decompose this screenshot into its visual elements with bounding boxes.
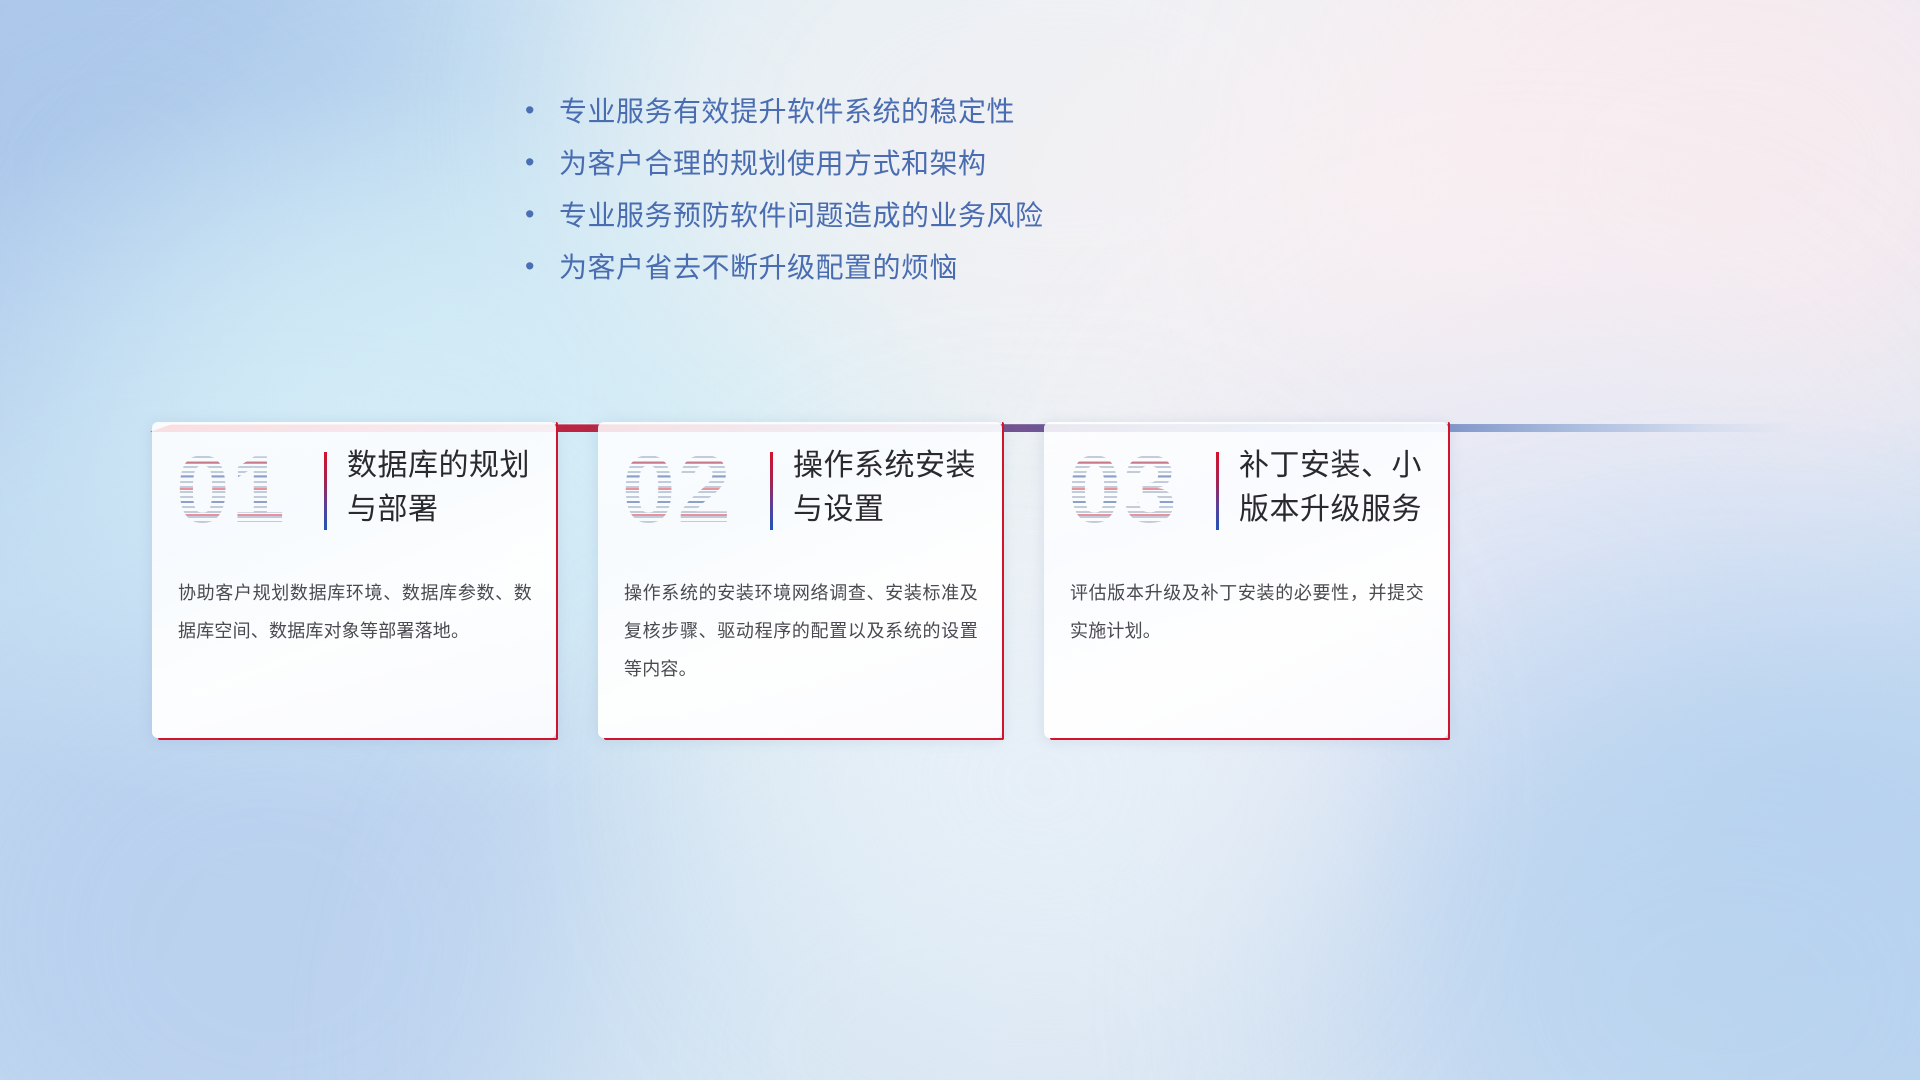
list-item: • 专业服务有效提升软件系统的稳定性	[525, 86, 1425, 138]
card-title-line2: 版本升级服务	[1239, 488, 1422, 532]
service-card-03[interactable]: 03 03 补丁安装、小 版本升级服务 评估版本升级及补丁安装的必要性，并提交实…	[1044, 422, 1448, 738]
card-body-text: 操作系统的安装环境网络调查、安装标准及复核步骤、驱动程序的配置以及系统的设置等内…	[624, 574, 978, 688]
service-card-row: 01 01 数据库的规划 与部署 协助客户规划数据库环境、数据库参数、数据库空间…	[152, 422, 1777, 762]
bullet-dot-icon: •	[525, 97, 559, 124]
slide-canvas: • 专业服务有效提升软件系统的稳定性 • 为客户合理的规划使用方式和架构 • 专…	[0, 0, 1920, 1080]
title-accent-rule	[1216, 452, 1219, 530]
card-title-line2: 与部署	[347, 488, 530, 532]
card-body-text: 评估版本升级及补丁安装的必要性，并提交实施计划。	[1070, 574, 1424, 650]
bullet-dot-icon: •	[525, 253, 559, 280]
card-header: 补丁安装、小 版本升级服务	[1216, 444, 1430, 532]
list-item: • 为客户合理的规划使用方式和架构	[525, 138, 1425, 190]
card-number-watermark-tint: 01	[176, 436, 308, 544]
card-title-line2: 与设置	[793, 488, 976, 532]
bullet-dot-icon: •	[525, 201, 559, 228]
card-title: 数据库的规划 与部署	[347, 444, 530, 532]
card-title: 补丁安装、小 版本升级服务	[1239, 444, 1422, 532]
card-number-watermark-tint: 03	[1068, 436, 1200, 544]
card-header: 操作系统安装 与设置	[770, 444, 984, 532]
benefits-bullet-list: • 专业服务有效提升软件系统的稳定性 • 为客户合理的规划使用方式和架构 • 专…	[525, 86, 1425, 294]
bullet-text: 专业服务有效提升软件系统的稳定性	[559, 86, 1015, 138]
card-title: 操作系统安装 与设置	[793, 444, 976, 532]
list-item: • 为客户省去不断升级配置的烦恼	[525, 242, 1425, 294]
bullet-text: 为客户合理的规划使用方式和架构	[559, 138, 987, 190]
title-accent-rule	[324, 452, 327, 530]
bullet-text: 为客户省去不断升级配置的烦恼	[559, 242, 958, 294]
list-item: • 专业服务预防软件问题造成的业务风险	[525, 190, 1425, 242]
card-body-text: 协助客户规划数据库环境、数据库参数、数据库空间、数据库对象等部署落地。	[178, 574, 532, 650]
service-card-02[interactable]: 02 02 操作系统安装 与设置 操作系统的安装环境网络调查、安装标准及复核步骤…	[598, 422, 1002, 738]
bullet-text: 专业服务预防软件问题造成的业务风险	[559, 190, 1044, 242]
card-number-watermark-tint: 02	[622, 436, 754, 544]
card-title-line1: 补丁安装、小	[1239, 444, 1422, 488]
title-accent-rule	[770, 452, 773, 530]
bullet-dot-icon: •	[525, 149, 559, 176]
service-card-01[interactable]: 01 01 数据库的规划 与部署 协助客户规划数据库环境、数据库参数、数据库空间…	[152, 422, 556, 738]
card-header: 数据库的规划 与部署	[324, 444, 538, 532]
card-title-line1: 操作系统安装	[793, 444, 976, 488]
card-title-line1: 数据库的规划	[347, 444, 530, 488]
